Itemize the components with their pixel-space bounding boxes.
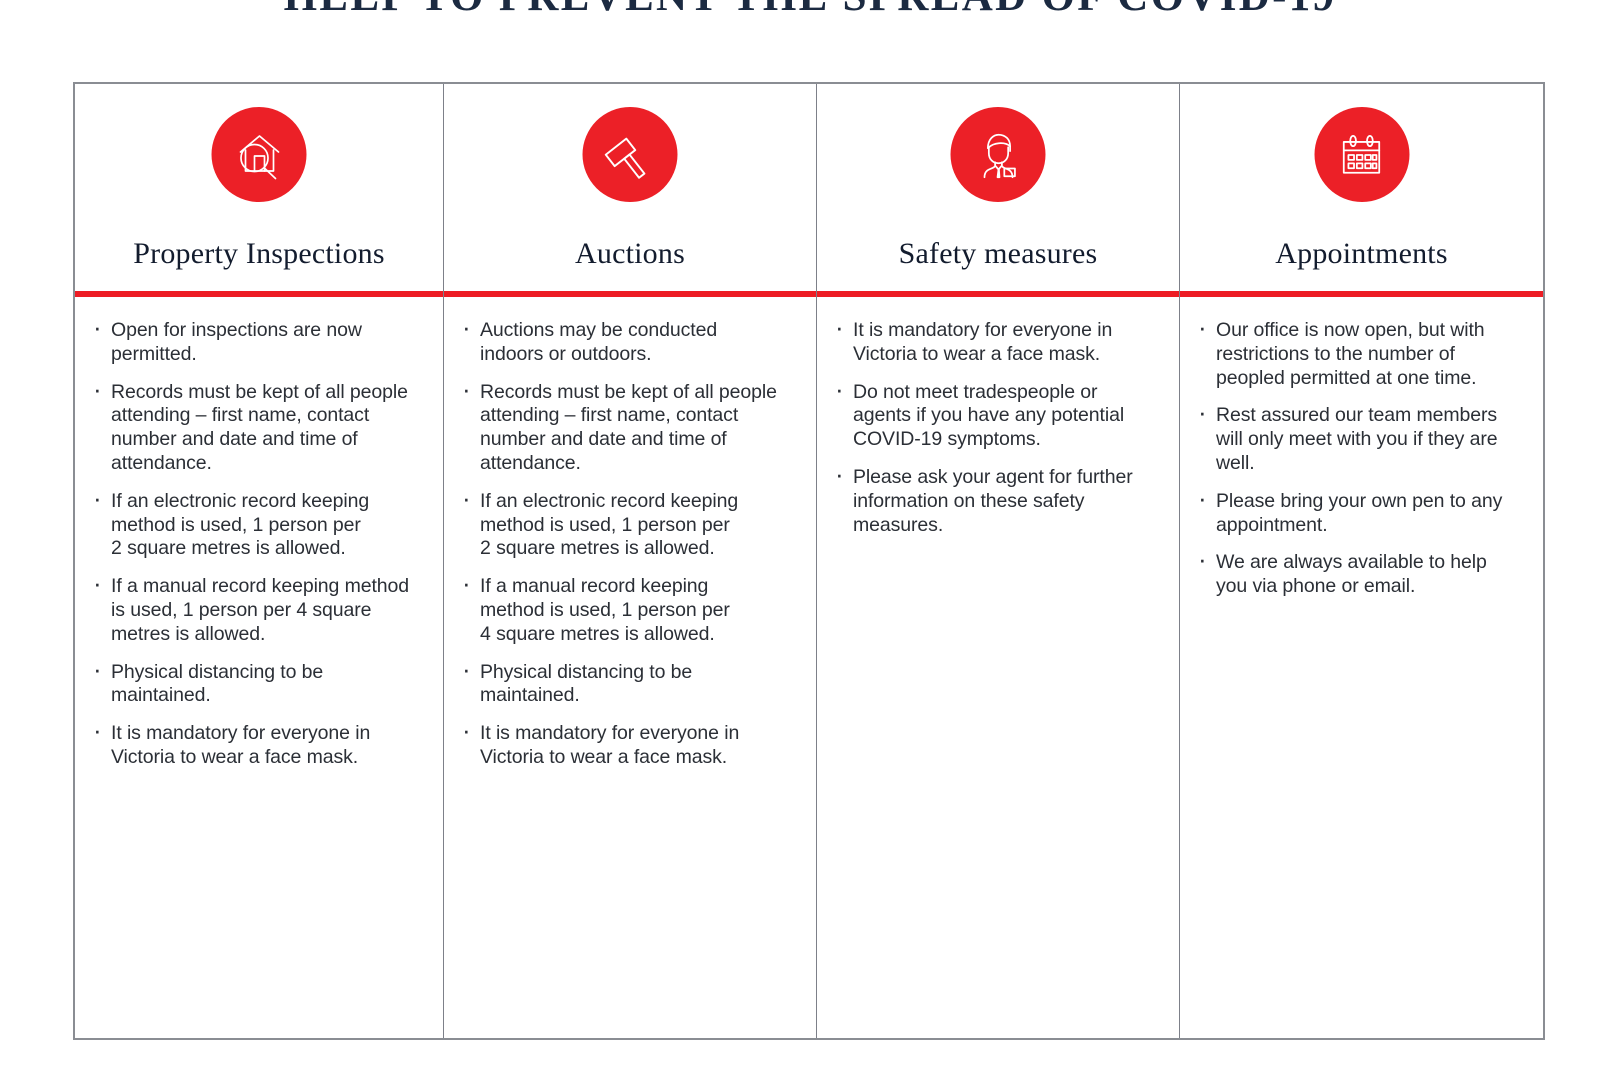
line: you via phone or email. [1216, 575, 1527, 599]
list-item: Please bring your own pen to any appoint… [1194, 490, 1527, 538]
bullet-list: Open for inspections are now permitted. … [89, 319, 427, 770]
list-item: Physical distancing to be maintained. [458, 661, 800, 709]
line: Rest assured our team members [1216, 404, 1527, 428]
column-title: Safety measures [817, 237, 1179, 271]
list-item: If a manual record keeping method is use… [458, 575, 800, 646]
line: number and date and time of [480, 428, 800, 452]
list-item: Our office is now open, but with restric… [1194, 319, 1527, 390]
line: method is used, 1 person per [480, 514, 800, 538]
column-body: Open for inspections are now permitted. … [75, 297, 443, 1038]
line: Victoria to wear a face mask. [480, 746, 800, 770]
line: well. [1216, 452, 1527, 476]
line: It is mandatory for everyone in [480, 722, 800, 746]
line: peopled permitted at one time. [1216, 367, 1527, 391]
line: Please ask your agent for further [853, 466, 1163, 490]
list-item: If an electronic record keeping method i… [458, 490, 800, 561]
line: appointment. [1216, 514, 1527, 538]
list-item: Records must be kept of all people atten… [89, 381, 427, 476]
line: attending – first name, contact [111, 404, 427, 428]
list-item: If an electronic record keeping method i… [89, 490, 427, 561]
line: COVID-19 symptoms. [853, 428, 1163, 452]
line: information on these safety [853, 490, 1163, 514]
list-item: It is mandatory for everyone in Victoria… [831, 319, 1163, 367]
line: maintained. [111, 684, 427, 708]
line: Do not meet tradespeople or [853, 381, 1163, 405]
column-title: Appointments [1180, 237, 1543, 271]
line: We are always available to help [1216, 551, 1527, 575]
table-column-property-inspections: Property Inspections Open for inspection… [75, 84, 444, 1038]
line: attendance. [480, 452, 800, 476]
column-header: Property Inspections [75, 84, 443, 291]
column-title: Property Inspections [75, 237, 443, 271]
calendar-icon [1314, 107, 1409, 202]
line: If a manual record keeping method [111, 575, 427, 599]
line: Records must be kept of all people [111, 381, 427, 405]
list-item: Records must be kept of all people atten… [458, 381, 800, 476]
line: maintained. [480, 684, 800, 708]
line: number and date and time of [111, 428, 427, 452]
line: It is mandatory for everyone in [111, 722, 427, 746]
line: metres is allowed. [111, 623, 427, 647]
column-header: Auctions [444, 84, 816, 291]
line: If a manual record keeping [480, 575, 800, 599]
page-title: HELP TO PREVENT THE SPREAD OF COVID-19 [0, 0, 1620, 21]
line: Physical distancing to be [111, 661, 427, 685]
info-table: Property Inspections Open for inspection… [73, 82, 1545, 1040]
column-body: Auctions may be conducted indoors or out… [444, 297, 816, 1038]
table-column-safety-measures: Safety measures It is mandatory for ever… [817, 84, 1180, 1038]
line: If an electronic record keeping [480, 490, 800, 514]
line: method is used, 1 person per [111, 514, 427, 538]
list-item: Physical distancing to be maintained. [89, 661, 427, 709]
line: indoors or outdoors. [480, 343, 800, 367]
bullet-list: Our office is now open, but with restric… [1194, 319, 1527, 599]
line: will only meet with you if they are [1216, 428, 1527, 452]
line: 2 square metres is allowed. [111, 537, 427, 561]
line: Please bring your own pen to any [1216, 490, 1527, 514]
line: agents if you have any potential [853, 404, 1163, 428]
line: 4 square metres is allowed. [480, 623, 800, 647]
table-column-auctions: Auctions Auctions may be conducted indoo… [444, 84, 817, 1038]
bullet-list: Auctions may be conducted indoors or out… [458, 319, 800, 770]
list-item: Open for inspections are now permitted. [89, 319, 427, 367]
poster-page: HELP TO PREVENT THE SPREAD OF COVID-19 P… [0, 0, 1620, 1080]
line: method is used, 1 person per [480, 599, 800, 623]
column-header: Safety measures [817, 84, 1179, 291]
line: Open for inspections are now [111, 319, 427, 343]
gavel-icon [583, 107, 678, 202]
list-item: It is mandatory for everyone in Victoria… [89, 722, 427, 770]
line: attendance. [111, 452, 427, 476]
list-item: It is mandatory for everyone in Victoria… [458, 722, 800, 770]
line: is used, 1 person per 4 square [111, 599, 427, 623]
agent-person-icon [951, 107, 1046, 202]
column-body: It is mandatory for everyone in Victoria… [817, 297, 1179, 1038]
line: Records must be kept of all people [480, 381, 800, 405]
list-item: Auctions may be conducted indoors or out… [458, 319, 800, 367]
column-body: Our office is now open, but with restric… [1180, 297, 1543, 1038]
column-header: Appointments [1180, 84, 1543, 291]
line: Victoria to wear a face mask. [111, 746, 427, 770]
line: If an electronic record keeping [111, 490, 427, 514]
list-item: Do not meet tradespeople or agents if yo… [831, 381, 1163, 452]
line: permitted. [111, 343, 427, 367]
table-column-appointments: Appointments Our office is now open, but… [1180, 84, 1543, 1038]
line: It is mandatory for everyone in [853, 319, 1163, 343]
list-item: We are always available to help you via … [1194, 551, 1527, 599]
bullet-list: It is mandatory for everyone in Victoria… [831, 319, 1163, 537]
line: 2 square metres is allowed. [480, 537, 800, 561]
list-item: If a manual record keeping method is use… [89, 575, 427, 646]
line: restrictions to the number of [1216, 343, 1527, 367]
line: Our office is now open, but with [1216, 319, 1527, 343]
line: Victoria to wear a face mask. [853, 343, 1163, 367]
house-magnifier-icon [212, 107, 307, 202]
line: attending – first name, contact [480, 404, 800, 428]
column-title: Auctions [444, 237, 816, 271]
line: Physical distancing to be [480, 661, 800, 685]
list-item: Please ask your agent for further inform… [831, 466, 1163, 537]
list-item: Rest assured our team members will only … [1194, 404, 1527, 475]
line: measures. [853, 514, 1163, 538]
line: Auctions may be conducted [480, 319, 800, 343]
